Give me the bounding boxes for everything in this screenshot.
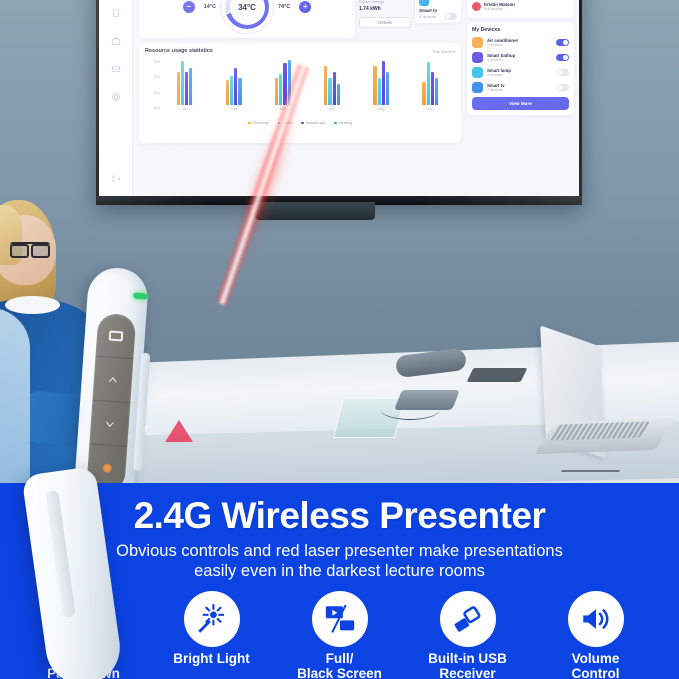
chart-bar [181,61,184,105]
gear-icon[interactable] [109,90,122,103]
smart-home-dashboard: − 14°C 34°C 74°C + 1.14 kWh ↓ [99,0,579,197]
chart-bar [386,72,389,106]
chart-bars [226,53,242,105]
chart-group: Feb [212,53,256,111]
mail-icon[interactable] [109,62,122,75]
screen-button[interactable] [95,313,136,360]
bright-light-icon [184,591,240,647]
device-count: 4 devices [487,73,552,77]
chart-bar [238,78,241,105]
feature-usb-receiver: Built-in USB Receiver [413,591,523,679]
device-text: Air conditioner2 devices [487,38,552,47]
chart-bar [324,66,327,105]
legend-item: Heating [334,121,352,125]
chart-bar [382,61,385,105]
chart-bar [333,72,336,106]
tv-display: − 14°C 34°C 74°C + 1.14 kWh ↓ [99,0,579,197]
chart-bar [328,78,331,105]
chart-bars [373,53,389,105]
device-text: Smart lamp4 devices [487,68,552,77]
list-item[interactable]: Smart bathup4 devices [472,52,569,63]
presenter-front-body [21,466,124,679]
eyeglasses [558,470,620,479]
details-button[interactable]: Details [359,17,411,28]
energy-panel: 1.14 kWh ↓ Export energy 1.74 kWh Detail… [359,0,411,38]
presenter-foreground [18,470,138,679]
chart-group: Jun [408,53,452,111]
chart-bar [431,72,434,106]
chart-bar [234,68,237,105]
document-icon[interactable] [109,6,122,19]
page-up-button[interactable] [92,357,133,404]
dashboard-sidebar [99,0,133,197]
device-icon [472,82,483,93]
logout-icon[interactable] [109,172,122,185]
export-energy-value: 1.74 kWh [359,6,411,12]
chart-x-tick: Jun [427,107,433,111]
feature-volume-control: Volume Control [541,591,651,679]
chart-bar [230,76,233,105]
chart-bar [427,62,430,105]
y-tick: $20 [145,91,160,95]
device-toggle[interactable] [556,54,569,61]
list-item[interactable]: Air conditioner2 devices [472,37,569,48]
view-more-button[interactable]: View More [472,97,569,110]
feature-label: Full/ Black Screen [285,652,395,679]
chart-bar [378,78,381,105]
device-icon [472,52,483,63]
thermostat-card: − 14°C 34°C 74°C + [139,0,355,38]
mini-device-toggle[interactable] [444,13,457,20]
mini-device-card[interactable]: Smart tv 4 devices [415,0,461,23]
temp-decrease-button[interactable]: − [183,1,195,13]
chart-group: May [359,53,403,111]
device-count: 2 devices [487,43,552,47]
device-icon [472,37,483,48]
chart-x-tick: Feb [230,107,237,111]
y-tick: $10 [145,106,160,110]
legend-label: Heating [339,121,352,125]
legend-item: Electricity [248,121,269,125]
red-folder [165,420,193,442]
device-toggle[interactable] [556,69,569,76]
feature-bright-light: Bright Light [157,591,267,667]
chart-x-tick: Jan [182,107,188,111]
device-toggle[interactable] [556,39,569,46]
feature-label: Volume Control [541,652,651,679]
legend-label: Natural gas [306,121,325,125]
keyboard [467,368,528,382]
device-toggle[interactable] [556,84,569,91]
my-devices-title: My Devices [472,27,569,33]
phone-cord [380,398,440,420]
status-led [133,293,147,300]
chart-bars [422,53,438,105]
current-temperature: 34°C [238,3,256,12]
chart-bar [422,82,425,105]
chart-bar [373,66,376,105]
temperature-dial[interactable]: 34°C [225,0,269,29]
chart-bar [189,68,192,105]
chart-bars [177,53,193,105]
feature-label: Built-in USB Receiver [413,652,523,679]
legend-item: Natural gas [301,121,325,125]
avatar [472,2,481,11]
device-icon [472,67,483,78]
photo-scene: − 14°C 34°C 74°C + 1.14 kWh ↓ [0,0,679,487]
feature-full-black-screen: Full/ Black Screen [285,591,395,679]
list-item[interactable]: Kristin Watson Full access [472,2,569,11]
temp-min-label: 14°C [204,4,216,10]
wall-mounted-tv: − 14°C 34°C 74°C + 1.14 kWh ↓ [96,0,582,205]
chart-bars [324,53,340,105]
chart-bar [185,72,188,106]
volume-control-icon [568,591,624,647]
device-count: 7 devices [487,88,552,92]
device-list: Air conditioner2 devicesSmart bathup4 de… [472,37,569,93]
feature-label: Bright Light [157,652,267,667]
briefcase-icon[interactable] [109,34,122,47]
device-count: 4 devices [487,58,552,62]
y-tick: $40 [145,60,160,64]
chart-bar [435,78,438,105]
tv-icon [419,0,429,6]
page-down-button[interactable] [89,401,130,448]
users-card: Full access Leslie Alexander Limited acc… [467,0,574,18]
chart-group: Jan [162,53,206,111]
chevron-up-icon [105,373,122,386]
legend-swatch [334,122,337,125]
y-tick: $30 [145,75,160,79]
woman-glasses [10,242,50,253]
device-text: Smart bathup4 devices [487,53,552,62]
legend-label: Electricity [253,121,269,125]
temp-increase-button[interactable]: + [299,1,311,13]
list-item[interactable]: Smart tv7 devices [472,82,569,93]
full-black-screen-icon [312,591,368,647]
screen-icon [109,330,124,341]
chart-x-tick: Apr [329,107,335,111]
mini-device-sub: 4 devices [419,14,436,19]
list-item[interactable]: Smart lamp4 devices [472,67,569,78]
my-devices-card: My Devices Air conditioner2 devicesSmart… [467,22,574,115]
chart-bar [177,72,180,106]
export-energy-label: Export energy [359,0,411,4]
chart-y-axis: $40 $30 $20 $10 [145,58,160,120]
legend-swatch [248,122,251,125]
device-text: Smart tv7 devices [487,83,552,92]
chart-x-tick: May [378,107,385,111]
chart-bar [337,84,340,105]
chart-bar [226,80,229,105]
user-access: Full access [484,7,515,11]
chevron-down-icon [101,417,118,430]
usb-receiver-icon [440,591,496,647]
dashboard-right-panel: Full access Leslie Alexander Limited acc… [467,0,579,197]
mini-device-cards: 4 devices Smart tv 4 devices [415,0,461,38]
temp-max-label: 74°C [278,4,290,10]
